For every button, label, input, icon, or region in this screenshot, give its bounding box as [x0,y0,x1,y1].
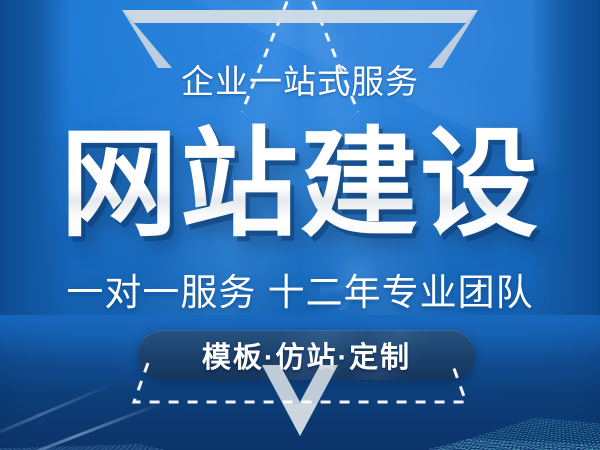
kicker-text: 企业一站式服务 [0,62,600,102]
bottom-chevron-frame-icon [0,340,600,450]
page-title: 网站建设 [0,122,600,248]
poster-canvas: 企业一站式服务 网站建设 一对一服务 十二年专业团队 模板·仿站·定制 [0,0,600,450]
subtitle-text: 一对一服务 十二年专业团队 [0,271,600,315]
